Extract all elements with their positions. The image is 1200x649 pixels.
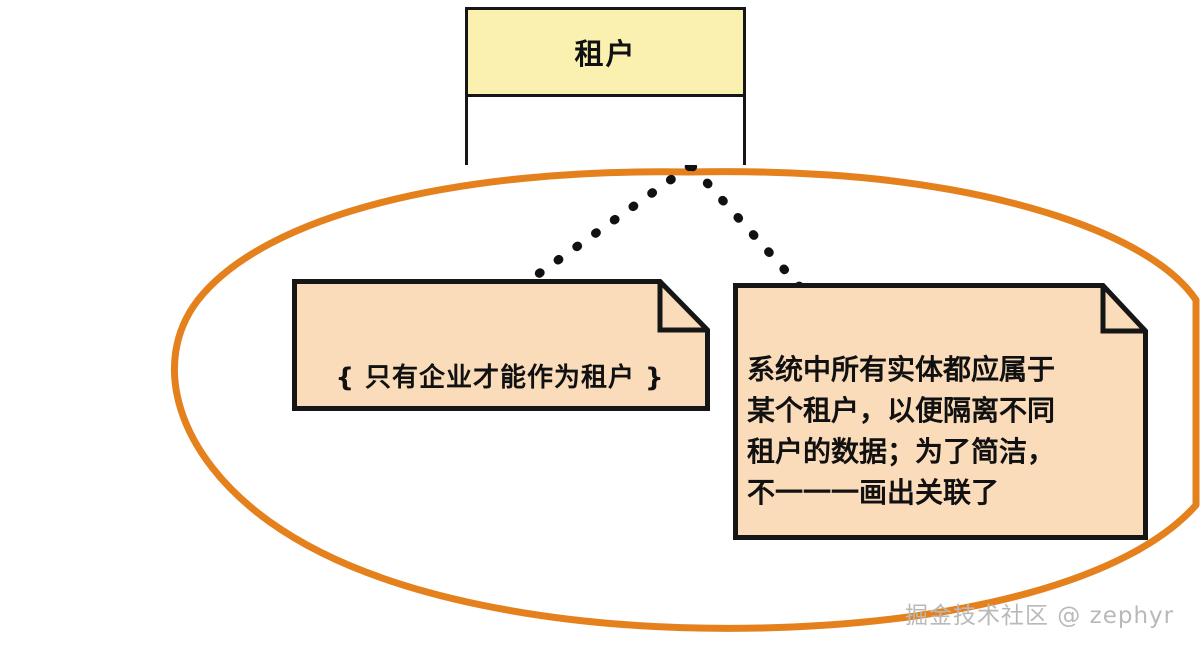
class-box-attributes-compartment [468, 97, 743, 165]
connector-right [692, 166, 800, 287]
class-name-label: 租户 [574, 31, 636, 73]
class-box-tenant[interactable]: 租户 [465, 7, 746, 165]
note-multitenancy-explanation[interactable]: 系统中所有实体都应属于 某个租户，以便隔离不同 租户的数据；为了简洁， 不一一一… [733, 283, 1148, 540]
diagram-canvas: 租户 { 只有企业才能作为租户 } 系统中所有实体都应属于 某个租户，以便隔离不… [0, 0, 1200, 649]
watermark-label: 掘金技术社区 @ zephyr [905, 596, 1174, 630]
note-left-text: { 只有企业才能作为租户 } [300, 361, 700, 395]
note-right-text: 系统中所有实体都应属于 某个租户，以便隔离不同 租户的数据；为了简洁， 不一一一… [747, 349, 1136, 513]
note-constraint-tenant[interactable]: { 只有企业才能作为租户 } [292, 279, 710, 411]
class-box-header: 租户 [468, 10, 743, 97]
connector-left [530, 166, 690, 280]
